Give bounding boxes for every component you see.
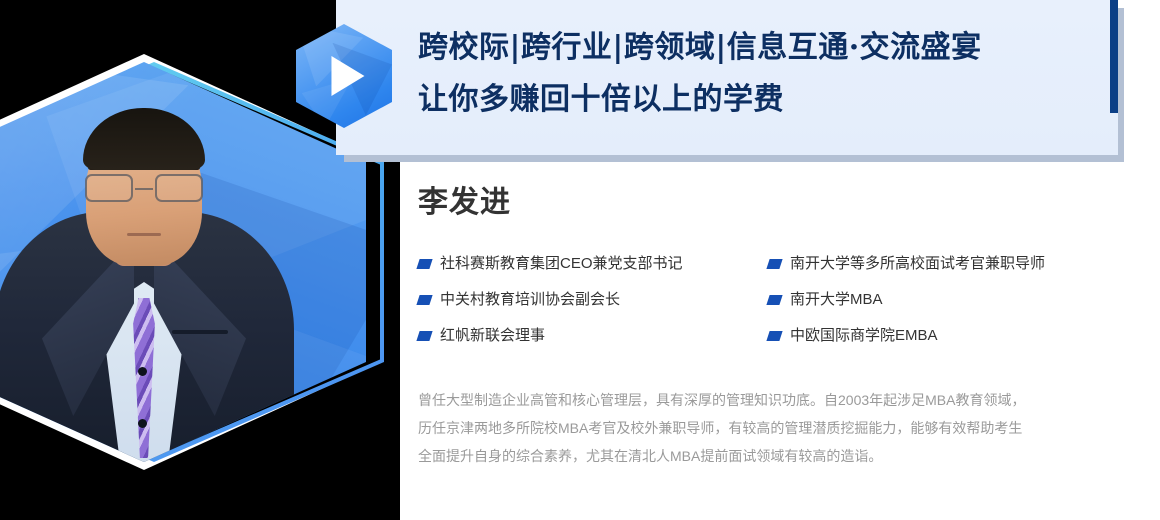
bio-line: 曾任大型制造企业高管和核心管理层，具有深厚的管理知识功底。自2003年起涉足MB… [418, 386, 1148, 414]
credential-label: 红帆新联会理事 [440, 326, 545, 346]
credentials-column-right: 南开大学等多所高校面试考官兼职导师 南开大学MBA 中欧国际商学院EMBA [768, 254, 1118, 362]
teacher-bio: 曾任大型制造企业高管和核心管理层，具有深厚的管理知识功底。自2003年起涉足MB… [418, 386, 1148, 470]
bullet-marker-icon [766, 259, 782, 269]
play-icon [331, 56, 364, 96]
credential-item: 南开大学MBA [768, 290, 1118, 310]
profile-content: 李发进 社科赛斯教育集团CEO兼党支部书记 中关村教育培训协会副会长 红帆新联会… [418, 186, 1138, 470]
bullet-marker-icon [416, 295, 432, 305]
bullet-marker-icon [766, 295, 782, 305]
headline-banner: 跨校际|跨行业|跨领域|信息互通·交流盛宴 让你多赚回十倍以上的学费 [336, 0, 1118, 155]
glasses-icon [85, 174, 203, 200]
teacher-name: 李发进 [418, 186, 1138, 220]
credential-item: 中欧国际商学院EMBA [768, 326, 1118, 346]
glasses-bridge [135, 188, 153, 190]
credential-label: 南开大学MBA [790, 290, 883, 310]
credential-item: 中关村教育培训协会副会长 [418, 290, 768, 310]
jacket-button [138, 367, 147, 376]
bullet-marker-icon [416, 259, 432, 269]
credentials: 社科赛斯教育集团CEO兼党支部书记 中关村教育培训协会副会长 红帆新联会理事 南… [418, 254, 1118, 362]
bullet-marker-icon [766, 331, 782, 341]
credential-item: 红帆新联会理事 [418, 326, 768, 346]
portrait-photo-hexagon [0, 62, 366, 462]
mouth [127, 233, 161, 236]
bullet-marker-icon [416, 331, 432, 341]
bio-line: 全面提升自身的综合素养，尤其在清北人MBA提前面试领域有较高的造诣。 [418, 442, 1148, 470]
banner-right-edge-bar [1110, 0, 1118, 113]
headline-line-2: 让你多赚回十倍以上的学费 [418, 74, 1078, 126]
jacket-button [138, 419, 147, 428]
teacher-profile-card: 跨校际|跨行业|跨领域|信息互通·交流盛宴 让你多赚回十倍以上的学费 李发进 社… [0, 0, 1160, 520]
headline-line-1: 跨校际|跨行业|跨领域|信息互通·交流盛宴 [418, 22, 1078, 74]
credential-item: 南开大学等多所高校面试考官兼职导师 [768, 254, 1118, 274]
credential-label: 中关村教育培训协会副会长 [440, 290, 620, 310]
credential-label: 社科赛斯教育集团CEO兼党支部书记 [440, 254, 683, 274]
credential-label: 南开大学等多所高校面试考官兼职导师 [790, 254, 1045, 274]
jacket-pocket [172, 330, 228, 334]
credentials-column-left: 社科赛斯教育集团CEO兼党支部书记 中关村教育培训协会副会长 红帆新联会理事 [418, 254, 768, 362]
bio-line: 历任京津两地多所院校MBA考官及校外兼职导师，有较高的管理潜质挖掘能力，能够有效… [418, 414, 1148, 442]
teacher-photo [0, 132, 294, 462]
credential-item: 社科赛斯教育集团CEO兼党支部书记 [418, 254, 768, 274]
credential-label: 中欧国际商学院EMBA [790, 326, 938, 346]
